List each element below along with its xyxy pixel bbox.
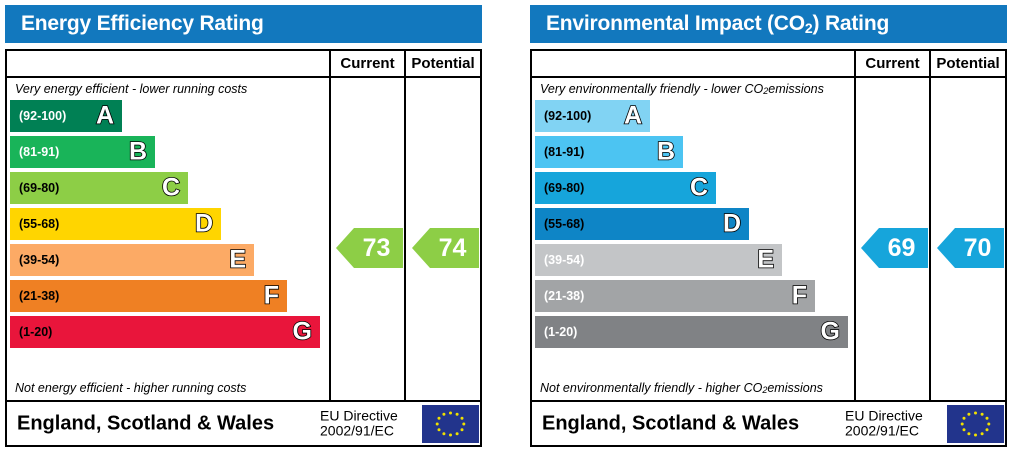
band-scale: Very energy efficient - lower running co… <box>7 78 329 400</box>
footer-directive-label: EU Directive 2002/91/EC <box>320 408 398 439</box>
band-a: (92-100) A <box>10 100 122 132</box>
band-e: (39-54) E <box>535 244 782 276</box>
band-scale: Very environmentally friendly - lower CO… <box>532 78 854 400</box>
band-b: (81-91) B <box>10 136 155 168</box>
band-b-letter: B <box>657 140 675 165</box>
potential-rating-cell: 74 <box>406 78 480 400</box>
band-e: (39-54) E <box>10 244 254 276</box>
eu-flag-icon <box>422 405 479 443</box>
epc-certificate-graphs: Energy Efficiency Rating Current Potenti… <box>0 0 1024 452</box>
band-g-letter: G <box>293 320 312 345</box>
chart-footer: England, Scotland & Wales EU Directive 2… <box>7 400 480 445</box>
band-c: (69-80) C <box>10 172 188 204</box>
band-b-letter: B <box>129 140 147 165</box>
caption-top-suffix: emissions <box>768 82 824 96</box>
footer-region-label: England, Scotland & Wales <box>17 412 274 435</box>
chart-title: Energy Efficiency Rating <box>21 12 264 36</box>
footer-directive-line1: EU Directive <box>845 407 923 423</box>
column-header-row: Current Potential <box>7 51 480 78</box>
band-e-range: (39-54) <box>19 253 59 267</box>
potential-rating-arrow: 70 <box>937 228 1004 268</box>
band-d-letter: D <box>195 212 213 237</box>
band-f-letter: F <box>792 284 807 309</box>
chart-header-banner: Environmental Impact (CO2) Rating <box>530 5 1007 43</box>
caption-top-subscript: 2 <box>763 86 768 96</box>
band-c-letter: C <box>162 176 180 201</box>
band-a-range: (92-100) <box>544 109 591 123</box>
band-f-letter: F <box>264 284 279 309</box>
band-f-range: (21-38) <box>544 289 584 303</box>
potential-rating-cell: 70 <box>931 78 1005 400</box>
energy-efficiency-rating-chart: Energy Efficiency Rating Current Potenti… <box>5 5 482 447</box>
environmental-impact-rating-chart: Environmental Impact (CO2) Rating Curren… <box>530 5 1007 447</box>
current-rating-value: 73 <box>363 236 391 261</box>
band-d: (55-68) D <box>535 208 749 240</box>
band-d: (55-68) D <box>10 208 221 240</box>
band-c: (69-80) C <box>535 172 716 204</box>
caption-top-prefix: Very environmentally friendly - lower CO <box>540 82 763 96</box>
band-f: (21-38) F <box>535 280 815 312</box>
band-e-letter: E <box>757 248 774 273</box>
chart-title: Environmental Impact (CO2) Rating <box>546 12 889 36</box>
footer-directive-line2: 2002/91/EC <box>320 423 394 439</box>
band-e-range: (39-54) <box>544 253 584 267</box>
band-c-letter: C <box>690 176 708 201</box>
band-a-range: (92-100) <box>19 109 66 123</box>
band-f-range: (21-38) <box>19 289 59 303</box>
band-d-range: (55-68) <box>19 217 59 231</box>
chart-footer: England, Scotland & Wales EU Directive 2… <box>532 400 1005 445</box>
current-rating-cell: 69 <box>856 78 929 400</box>
footer-directive-line1: EU Directive <box>320 407 398 423</box>
potential-rating-value: 70 <box>964 236 992 261</box>
band-b-range: (81-91) <box>544 145 584 159</box>
potential-rating-arrow: 74 <box>412 228 479 268</box>
band-d-range: (55-68) <box>544 217 584 231</box>
column-header-potential: Potential <box>929 51 1005 76</box>
eu-flag-icon <box>947 405 1004 443</box>
rating-table: Current Potential Very energy efficient … <box>5 49 482 447</box>
caption-not-efficient: Not energy efficient - higher running co… <box>15 378 327 397</box>
current-rating-cell: 73 <box>331 78 404 400</box>
band-c-range: (69-80) <box>19 181 59 195</box>
band-b: (81-91) B <box>535 136 683 168</box>
caption-bottom-prefix: Not environmentally friendly - higher CO <box>540 381 762 395</box>
band-d-letter: D <box>723 212 741 237</box>
caption-bottom-subscript: 2 <box>762 385 767 395</box>
potential-rating-value: 74 <box>439 236 467 261</box>
caption-very-friendly: Very environmentally friendly - lower CO… <box>540 79 852 98</box>
band-g: (1-20) G <box>10 316 320 348</box>
footer-region-label: England, Scotland & Wales <box>542 412 799 435</box>
band-g-range: (1-20) <box>19 325 52 339</box>
footer-directive-label: EU Directive 2002/91/EC <box>845 408 923 439</box>
band-a-letter: A <box>96 104 114 129</box>
chart-title-subscript: 2 <box>805 20 813 36</box>
chart-header-banner: Energy Efficiency Rating <box>5 5 482 43</box>
caption-bottom-suffix: emissions <box>767 381 823 395</box>
band-g-letter: G <box>821 320 840 345</box>
column-header-potential: Potential <box>404 51 480 76</box>
band-g-range: (1-20) <box>544 325 577 339</box>
rating-table: Current Potential Very environmentally f… <box>530 49 1007 447</box>
band-b-range: (81-91) <box>19 145 59 159</box>
band-g: (1-20) G <box>535 316 848 348</box>
chart-title-suffix: ) Rating <box>813 12 890 35</box>
band-a: (92-100) A <box>535 100 650 132</box>
band-a-letter: A <box>624 104 642 129</box>
chart-title-prefix: Environmental Impact (CO <box>546 12 805 35</box>
current-rating-value: 69 <box>888 236 916 261</box>
caption-not-friendly: Not environmentally friendly - higher CO… <box>540 378 852 397</box>
current-rating-arrow: 69 <box>861 228 928 268</box>
band-f: (21-38) F <box>10 280 287 312</box>
band-c-range: (69-80) <box>544 181 584 195</box>
caption-very-efficient: Very energy efficient - lower running co… <box>15 79 327 98</box>
column-header-row: Current Potential <box>532 51 1005 78</box>
footer-directive-line2: 2002/91/EC <box>845 423 919 439</box>
column-header-current: Current <box>854 51 929 76</box>
column-header-current: Current <box>329 51 404 76</box>
band-e-letter: E <box>229 248 246 273</box>
current-rating-arrow: 73 <box>336 228 403 268</box>
